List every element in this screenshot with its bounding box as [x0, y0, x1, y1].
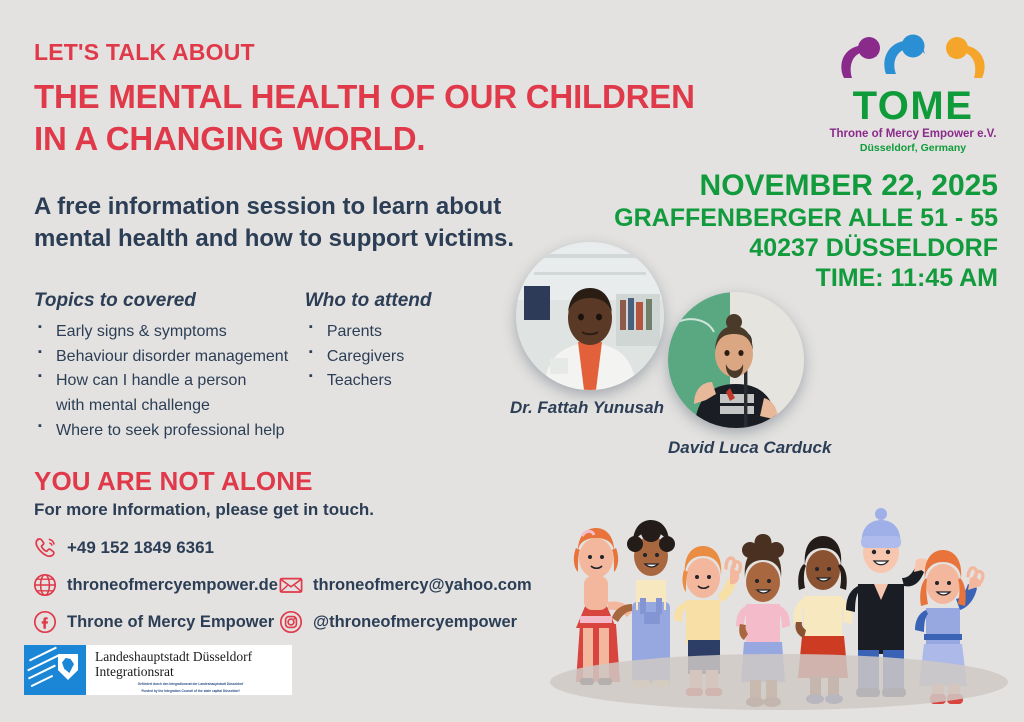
- list-item: Behaviour disorder management: [34, 346, 305, 369]
- duesseldorf-logo-icon: [24, 645, 86, 695]
- headline-line-1: THE MENTAL HEALTH OF OUR CHILDREN: [34, 76, 694, 118]
- contact-instagram-value: @throneofmercyempower: [313, 613, 517, 632]
- headline-line-2: IN A CHANGING WORLD.: [34, 118, 694, 160]
- list-item: Teachers: [305, 370, 504, 393]
- list-item: How can I handle a person: [34, 370, 305, 393]
- instagram-icon: [278, 609, 304, 635]
- topics-heading: Topics to covered: [34, 290, 305, 312]
- event-details: NOVEMBER 22, 2025 GRAFFENBERGER ALLE 51 …: [614, 168, 998, 293]
- sponsor-title-line-1: Landeshauptstadt Düsseldorf: [95, 649, 286, 664]
- event-city: 40237 DÜSSELDORF: [614, 233, 998, 263]
- contact-phone-value: +49 152 1849 6361: [67, 538, 214, 558]
- list-item: Parents: [305, 321, 504, 344]
- sponsor-title-line-2: Integrationsrat: [95, 664, 286, 679]
- sponsor-badge: Landeshauptstadt Düsseldorf Integrations…: [24, 645, 292, 695]
- tome-location: Düsseldorf, Germany: [824, 142, 1002, 155]
- tome-wordmark: TOME: [824, 87, 1002, 125]
- cta-title: YOU ARE NOT ALONE: [34, 466, 313, 497]
- contact-website-value: throneofmercyempower.de: [67, 576, 278, 595]
- attendees-column: Who to attend Parents Caregivers Teacher…: [305, 290, 504, 445]
- illustration-ground-shadow: [550, 654, 1008, 710]
- contact-facebook-value: Throne of Mercy Empower: [67, 613, 274, 632]
- headline-block: LET'S TALK ABOUT THE MENTAL HEALTH OF OU…: [34, 40, 694, 161]
- globe-icon: [32, 572, 58, 598]
- facebook-icon: [32, 609, 58, 635]
- list-item: Early signs & symptoms: [34, 321, 305, 344]
- event-date: NOVEMBER 22, 2025: [614, 168, 998, 203]
- contact-row-phone: +49 152 1849 6361: [32, 535, 532, 561]
- contact-instagram[interactable]: @throneofmercyempower: [278, 609, 517, 635]
- contact-row-web-email: throneofmercyempower.de throneofmercy@ya…: [32, 572, 532, 598]
- sponsor-badge-text: Landeshauptstadt Düsseldorf Integrations…: [86, 645, 292, 695]
- event-street: GRAFFENBERGER ALLE 51 - 55: [614, 203, 998, 233]
- subheadline: A free information session to learn abou…: [34, 191, 554, 254]
- list-item: Caregivers: [305, 346, 504, 369]
- list-item: Where to seek professional help: [34, 420, 305, 443]
- list-item: with mental challenge: [34, 395, 305, 418]
- subheadline-line-1: A free information session to learn abou…: [34, 191, 554, 223]
- speaker-photo-2: [668, 292, 804, 428]
- contact-email-value: throneofmercy@yahoo.com: [313, 576, 532, 595]
- contact-block: +49 152 1849 6361 throneofmercyempower.d…: [32, 535, 532, 646]
- attendees-list: Parents Caregivers Teachers: [305, 321, 504, 393]
- tome-logo-figures-icon: [824, 28, 1002, 86]
- topics-column: Topics to covered Early signs & symptoms…: [34, 290, 305, 445]
- contact-phone[interactable]: +49 152 1849 6361: [32, 535, 214, 561]
- tome-subtitle: Throne of Mercy Empower e.V.: [824, 127, 1002, 141]
- tome-logo: TOME Throne of Mercy Empower e.V. Düssel…: [824, 28, 1002, 155]
- lion-crest-icon: [58, 654, 78, 680]
- lists-section: Topics to covered Early signs & symptoms…: [34, 290, 504, 445]
- contact-facebook[interactable]: Throne of Mercy Empower: [32, 609, 278, 635]
- children-illustration: [540, 452, 1020, 714]
- poster-canvas: LET'S TALK ABOUT THE MENTAL HEALTH OF OU…: [0, 0, 1024, 722]
- speaker-photo-1: [516, 242, 664, 390]
- contact-row-social: Throne of Mercy Empower @throneofmercyem…: [32, 609, 532, 635]
- event-time: TIME: 11:45 AM: [614, 263, 998, 293]
- cta-subtitle: For more Information, please get in touc…: [34, 500, 374, 520]
- attendees-heading: Who to attend: [305, 290, 504, 312]
- envelope-icon: [278, 572, 304, 598]
- subheadline-line-2: mental health and how to support victims…: [34, 223, 554, 255]
- speaker-name-1: Dr. Fattah Yunusah: [510, 398, 664, 418]
- sponsor-fine-line-1: Gefördert durch den Integrationsrat der …: [95, 682, 286, 687]
- contact-website[interactable]: throneofmercyempower.de: [32, 572, 278, 598]
- sponsor-fine-line-2: Funded by the Integration Council of the…: [95, 689, 286, 694]
- topics-list: Early signs & symptoms Behaviour disorde…: [34, 321, 305, 443]
- contact-email[interactable]: throneofmercy@yahoo.com: [278, 572, 532, 598]
- phone-icon: [32, 535, 58, 561]
- headline-kicker: LET'S TALK ABOUT: [34, 40, 694, 64]
